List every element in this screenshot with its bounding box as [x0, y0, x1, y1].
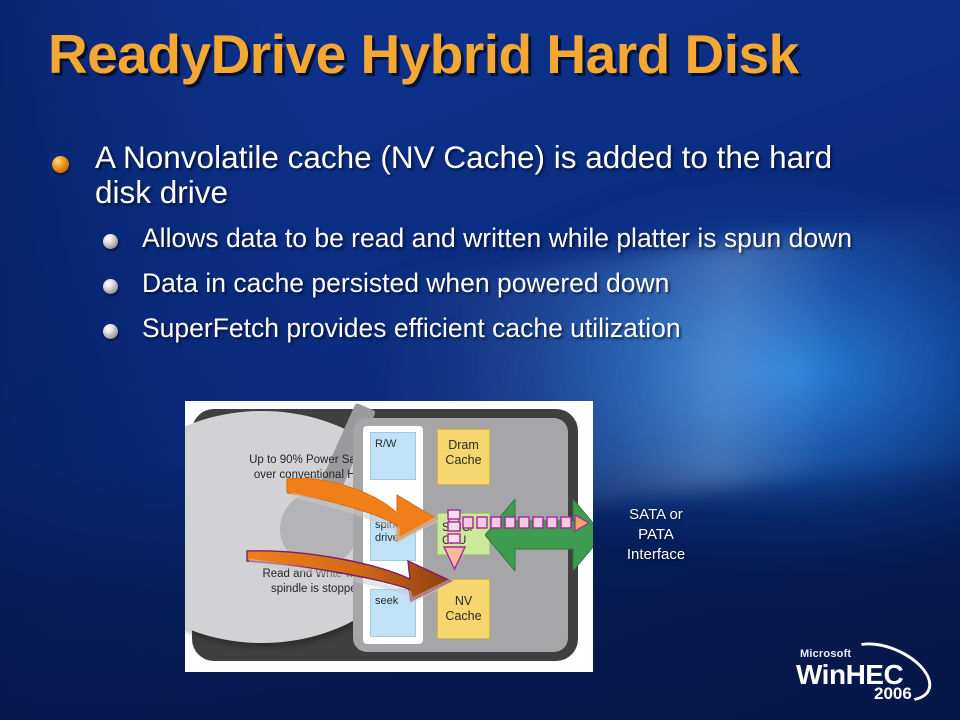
silver-sphere-bullet-icon [103, 234, 118, 249]
bullet-level1-label: A Nonvolatile cache (NV Cache) is added … [95, 140, 885, 210]
bullet-level2-label: Data in cache persisted when powered dow… [142, 269, 887, 298]
bullet-list: A Nonvolatile cache (NV Cache) is added … [0, 140, 960, 343]
hybrid-drive-diagram: Up to 90% Power Saving over conventional… [185, 401, 593, 672]
slide-root: ReadyDrive Hybrid Hard Disk A Nonvolatil… [0, 0, 960, 720]
silver-sphere-bullet-icon [103, 324, 118, 339]
bullet-level2-item: Allows data to be read and written while… [0, 224, 960, 253]
winhec-logo: Microsoft WinHEC 2006 [790, 648, 940, 708]
chip-dram-cache: Dram Cache [437, 429, 490, 485]
bullet-level2-label: SuperFetch provides efficient cache util… [142, 314, 887, 343]
orange-sphere-bullet-icon [52, 156, 69, 173]
winhec-year: 2006 [874, 684, 912, 704]
bullet-level2-label: Allows data to be read and written while… [142, 224, 887, 253]
power-saving-arrow-icon [285, 473, 440, 543]
read-write-arrow-icon [245, 541, 455, 603]
silver-sphere-bullet-icon [103, 279, 118, 294]
bullet-level2-item: Data in cache persisted when powered dow… [0, 269, 960, 298]
bullet-level2-item: SuperFetch provides efficient cache util… [0, 314, 960, 343]
nv-cache-write-arrow-icon [443, 509, 467, 571]
bullet-level1-item: A Nonvolatile cache (NV Cache) is added … [0, 140, 960, 210]
slide-title: ReadyDrive Hybrid Hard Disk [48, 22, 918, 86]
sata-pata-interface-label: SATA or PATA Interface [602, 505, 710, 565]
data-bus-dashed-icon [447, 513, 589, 533]
sata-pata-interface-arrow-icon [485, 499, 593, 571]
